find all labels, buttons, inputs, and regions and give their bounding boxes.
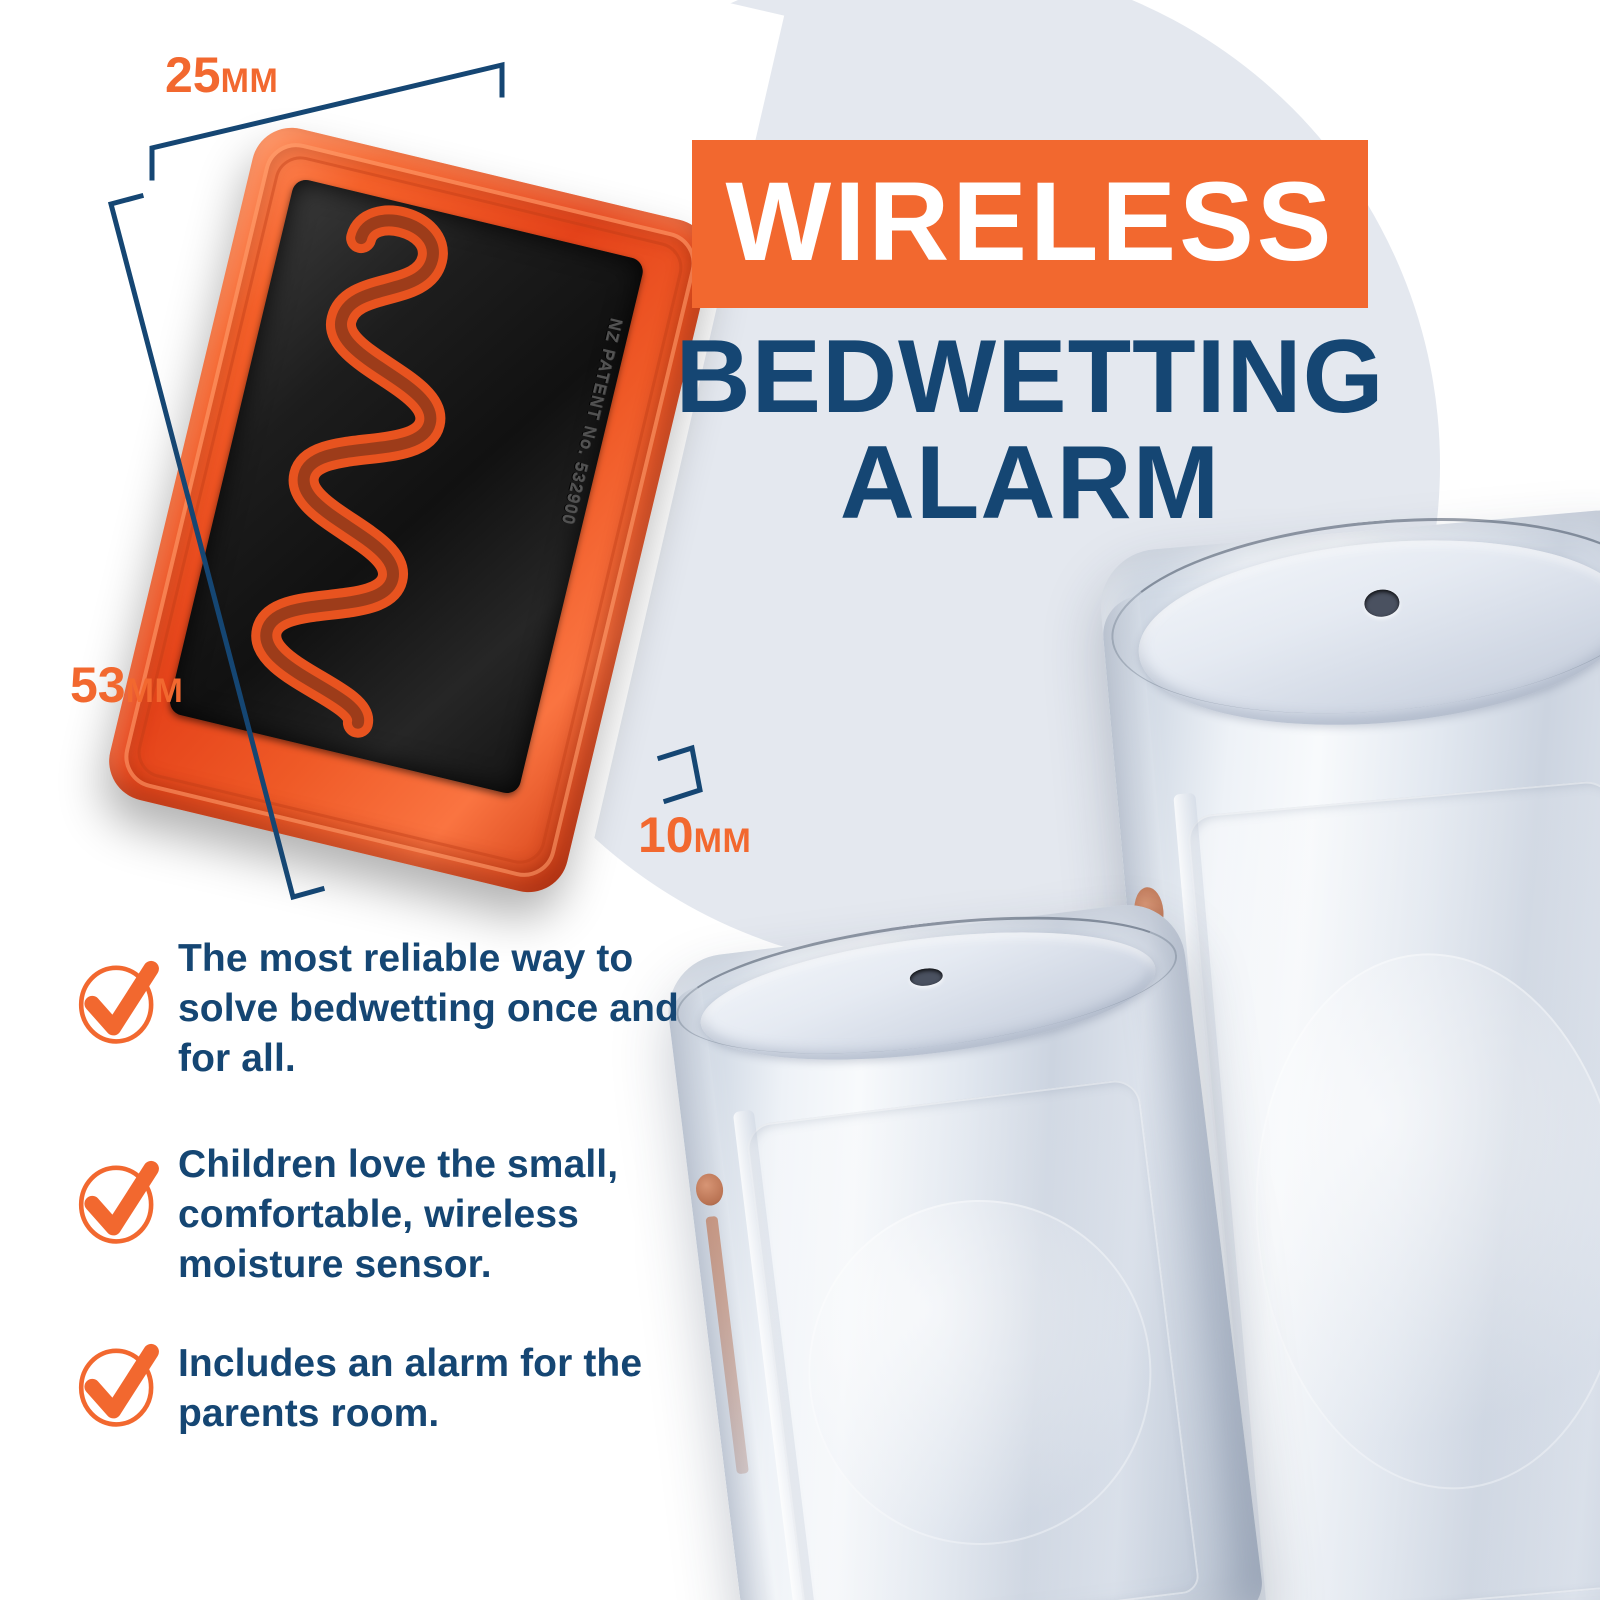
page-title: BEDWETTING ALARM (660, 324, 1400, 536)
list-item: Children love the small, comfortable, wi… (72, 1130, 692, 1290)
width-value: 25 (165, 47, 221, 103)
sensor-thickness-dimension: 10MM (638, 810, 751, 860)
alarm-unit-front-photo (662, 898, 1266, 1600)
thickness-unit: MM (694, 822, 752, 860)
feature-text: Children love the small, comfortable, wi… (178, 1130, 692, 1290)
check-circle-icon (72, 954, 164, 1046)
promo-graphic-canvas: NZ PATENT No. 532900 25MM 53MM 10MM WIRE… (0, 0, 1600, 1600)
width-unit: MM (221, 62, 279, 100)
check-circle-icon (72, 1154, 164, 1246)
list-item: The most reliable way to solve bedwettin… (72, 930, 692, 1084)
sensor-width-dimension: 25MM (165, 50, 278, 100)
height-unit: MM (126, 672, 184, 710)
height-value: 53 (70, 657, 126, 713)
thickness-value: 10 (638, 807, 694, 863)
feature-list: The most reliable way to solve bedwettin… (72, 930, 692, 1485)
wireless-badge: WIRELESS (692, 140, 1369, 308)
sensor-height-dimension: 53MM (70, 660, 183, 710)
headline-line-1: BEDWETTING (675, 319, 1384, 435)
feature-text: The most reliable way to solve bedwettin… (178, 930, 692, 1084)
list-item: Includes an alarm for the parents room. (72, 1329, 692, 1439)
check-circle-icon (72, 1337, 164, 1429)
headline-line-2: ALARM (660, 430, 1400, 536)
feature-text: Includes an alarm for the parents room. (178, 1329, 692, 1439)
headline-block: WIRELESS BEDWETTING ALARM (660, 140, 1400, 536)
